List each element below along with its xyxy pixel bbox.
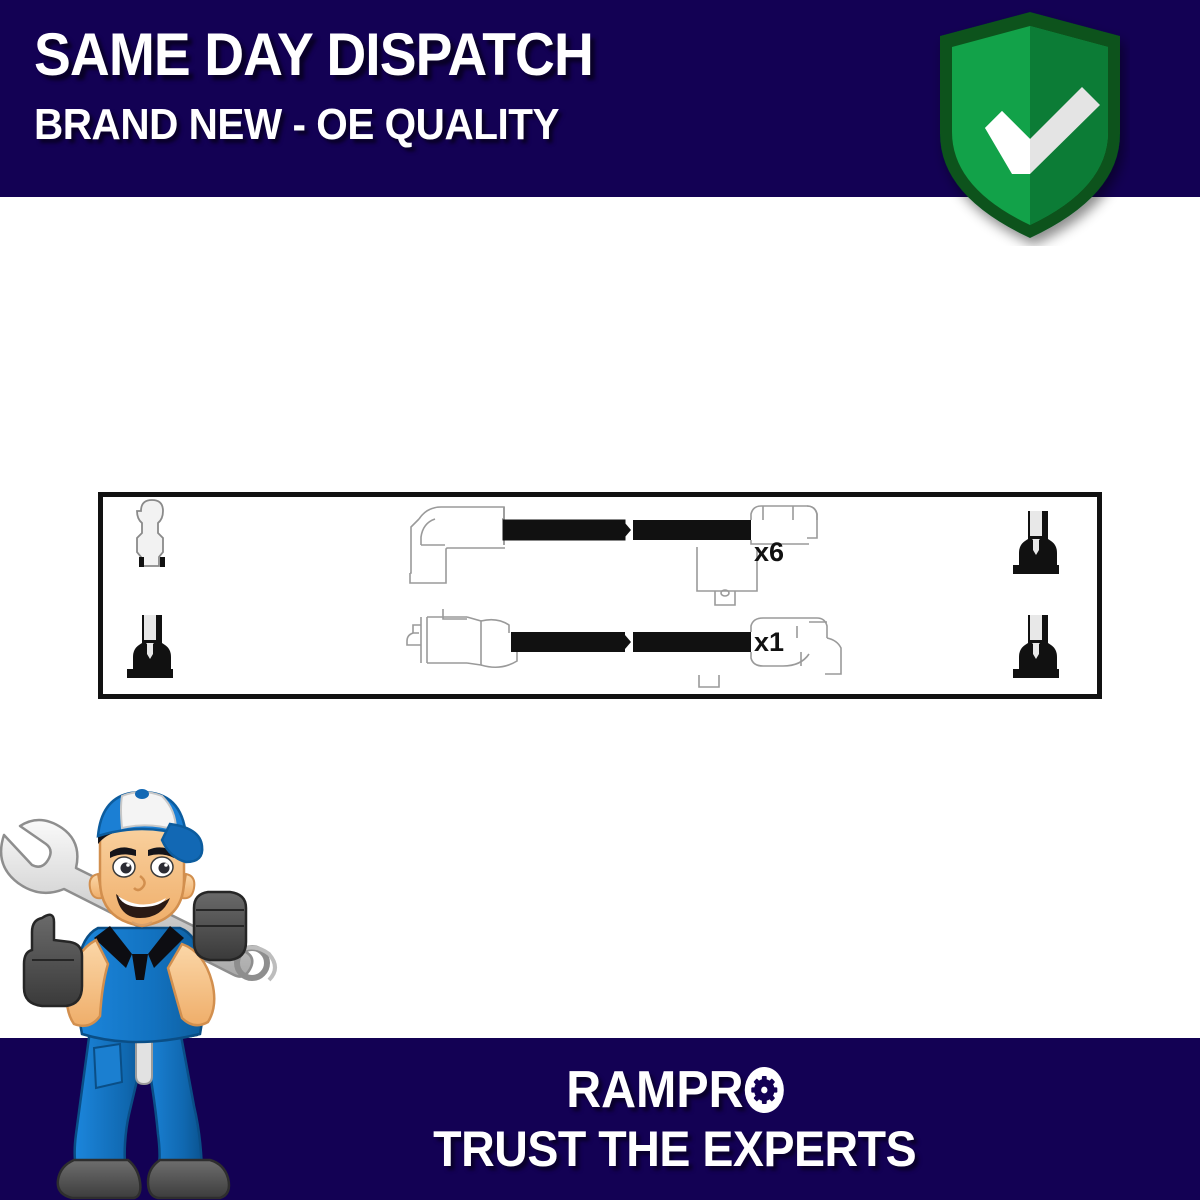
brand-tagline: TRUST THE EXPERTS (434, 1122, 917, 1176)
quantity-label-lead-1: x6 (754, 537, 784, 568)
glove-grip-icon (194, 892, 246, 960)
headline-brand-new-oe-quality: BRAND NEW - OE QUALITY (34, 99, 593, 151)
shield-check-icon (930, 6, 1130, 246)
ignition-lead-set-diagram: x6 x1 (98, 492, 1102, 699)
glove-thumbs-up-icon (24, 915, 82, 1006)
brand-logo: RAMPR (566, 1062, 784, 1118)
boot-solid-icon (1013, 511, 1059, 574)
lead-set-line-drawing (103, 497, 1097, 694)
boot-solid-icon (1013, 615, 1059, 678)
quantity-label-lead-2: x1 (754, 627, 784, 658)
gear-icon (743, 1064, 784, 1116)
header-headline-block: SAME DAY DISPATCH BRAND NEW - OE QUALITY (34, 22, 642, 151)
terminal-outline-icon (137, 500, 165, 567)
boot-solid-icon (127, 615, 173, 678)
headline-same-day-dispatch: SAME DAY DISPATCH (34, 22, 593, 88)
mechanic-mascot (0, 780, 294, 1200)
mascot-boots (58, 1160, 229, 1198)
brand-name-text: RAMPR (566, 1062, 743, 1118)
